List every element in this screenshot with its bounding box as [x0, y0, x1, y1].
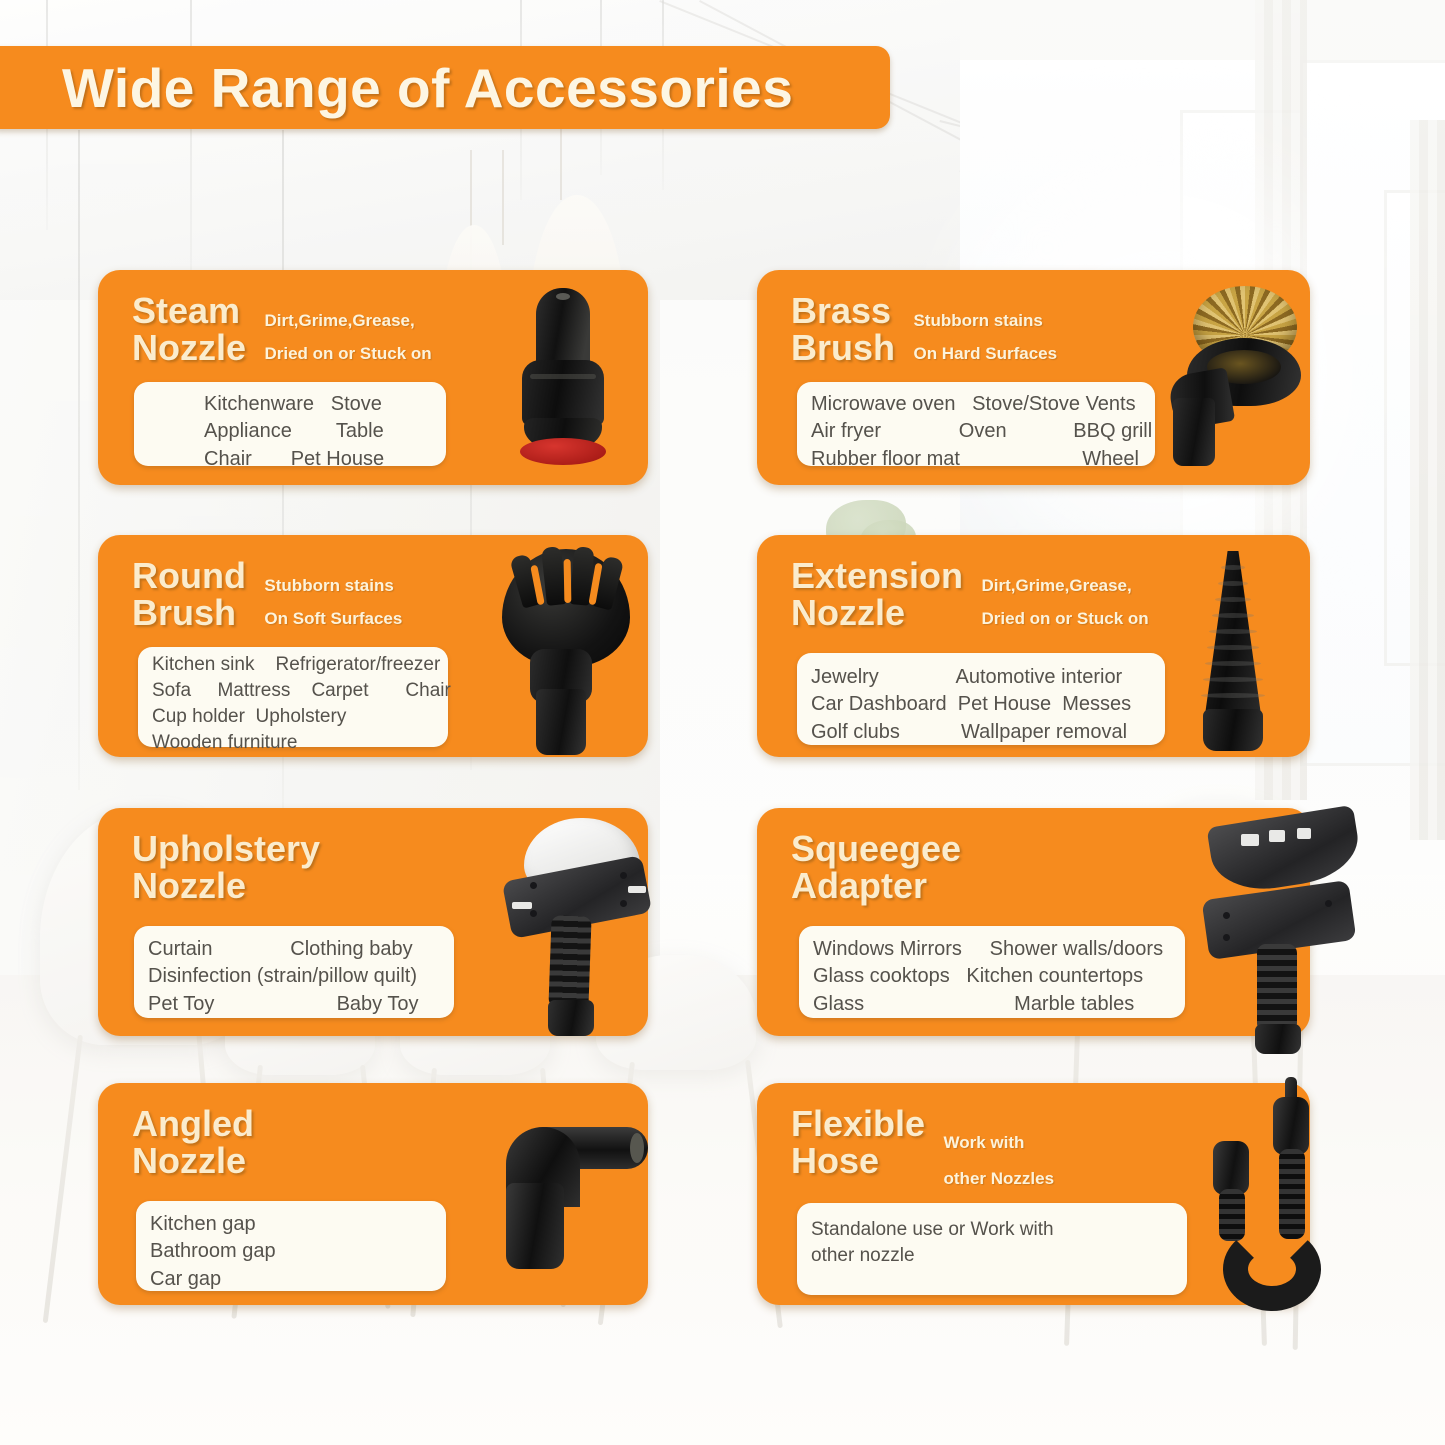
uses-box: Curtain Clothing baby Disinfection (stra…	[134, 926, 454, 1018]
accessory-card-extension-nozzle[interactable]: Extension Nozzle Dirt,Grime,Grease, Drie…	[757, 535, 1310, 757]
use-line: Air fryer Oven BBQ grill	[811, 418, 1141, 445]
use-line: Glass Marble tables	[813, 991, 1171, 1018]
card-title: Flexible Hose	[791, 1105, 925, 1179]
use-line: Car Dashboard Pet House Messes	[811, 691, 1151, 718]
card-title: Steam Nozzle	[132, 292, 246, 366]
card-title: Brass Brush	[791, 292, 895, 366]
use-line: Rubber floor mat Wheel	[811, 446, 1141, 473]
accessory-card-round-brush[interactable]: Round Brush Stubborn stains On Soft Surf…	[98, 535, 648, 757]
card-subtitle: Dirt,Grime,Grease, Dried on or Stuck on	[264, 304, 431, 370]
card-header: Extension Nozzle Dirt,Grime,Grease, Drie…	[791, 557, 1160, 635]
use-line: Kitchenware Stove	[148, 391, 432, 418]
use-line: Kitchen gap	[150, 1211, 432, 1238]
angled-nozzle-image	[488, 1123, 648, 1273]
card-title: Extension Nozzle	[791, 557, 963, 631]
accessory-card-angled-nozzle[interactable]: Angled Nozzle Any Gap or Curved surface …	[98, 1083, 648, 1305]
flexible-hose-image	[1197, 1077, 1347, 1312]
use-line: Glass cooktops Kitchen countertops	[813, 963, 1171, 990]
card-subtitle: Work with other Nozzles	[944, 1125, 1055, 1196]
uses-box: Windows Mirrors Shower walls/doors Glass…	[799, 926, 1185, 1018]
accessory-card-squeegee-adapter[interactable]: Squeegee Adapter Work With Upholstery No…	[757, 808, 1310, 1036]
use-line: Car gap	[150, 1266, 432, 1293]
uses-box: Kitchenware Stove Appliance Table Chair …	[134, 382, 446, 466]
uses-box: Standalone use or Work with other nozzle	[797, 1203, 1187, 1295]
use-line: Curtain Clothing baby	[148, 936, 440, 963]
brass-brush-image	[1167, 286, 1302, 466]
use-line: Sofa Mattress Carpet Chair	[152, 678, 434, 704]
use-line: Disinfection (strain/pillow quilt)	[148, 963, 440, 990]
use-line: Microwave oven Stove/Stove Vents	[811, 391, 1141, 418]
card-title: Upholstery Nozzle	[132, 830, 320, 904]
uses-box: Microwave oven Stove/Stove Vents Air fry…	[797, 382, 1155, 466]
upholstery-nozzle-image	[490, 818, 650, 1038]
use-line: other nozzle	[811, 1243, 1173, 1269]
card-subtitle: Dirt,Grime,Grease, Dried on or Stuck on	[982, 569, 1149, 635]
use-line: Appliance Table	[148, 418, 432, 445]
accessory-card-upholstery-nozzle[interactable]: Upholstery Nozzle Work with Cloth Cover …	[98, 808, 648, 1036]
extension-nozzle-image	[1185, 551, 1281, 751]
card-title: Squeegee Adapter	[791, 830, 961, 904]
use-line: Bathroom gap	[150, 1238, 432, 1265]
use-line: Golf clubs Wallpaper removal	[811, 719, 1151, 746]
use-line: Chair Pet House	[148, 446, 432, 473]
squeegee-adapter-image	[1193, 816, 1363, 1051]
round-brush-image	[486, 549, 636, 754]
uses-box: Jewelry Automotive interior Car Dashboar…	[797, 653, 1165, 745]
use-line: Jewelry Automotive interior	[811, 664, 1151, 691]
uses-box: Kitchen gap Bathroom gap Car gap	[136, 1201, 446, 1291]
accessory-card-steam-nozzle[interactable]: Steam Nozzle Dirt,Grime,Grease, Dried on…	[98, 270, 648, 485]
use-line: Kitchen sink Refrigerator/freezer	[152, 652, 434, 678]
card-header: Steam Nozzle Dirt,Grime,Grease, Dried on…	[132, 292, 498, 370]
card-header: Brass Brush Stubborn stains On Hard Surf…	[791, 292, 1160, 370]
accessory-card-brass-brush[interactable]: Brass Brush Stubborn stains On Hard Surf…	[757, 270, 1310, 485]
uses-box: Kitchen sink Refrigerator/freezer Sofa M…	[138, 647, 448, 747]
card-header: Flexible Hose Work with other Nozzles	[791, 1105, 1140, 1196]
card-title: Round Brush	[132, 557, 246, 631]
accessory-card-flexible-hose[interactable]: Flexible Hose Work with other Nozzles St…	[757, 1083, 1310, 1305]
use-line: Pet Toy Baby Toy	[148, 991, 440, 1018]
use-line: Cup holder Upholstery	[152, 704, 434, 730]
card-header: Round Brush Stubborn stains On Soft Surf…	[132, 557, 498, 635]
card-title: Angled Nozzle	[132, 1105, 254, 1179]
use-line: Wooden furniture	[152, 730, 434, 756]
use-line: Windows Mirrors Shower walls/doors	[813, 936, 1171, 963]
card-subtitle: Stubborn stains On Soft Surfaces	[264, 569, 402, 635]
use-line: Standalone use or Work with	[811, 1217, 1173, 1243]
steam-nozzle-image	[508, 288, 618, 468]
page-title: Wide Range of Accessories	[62, 50, 882, 126]
accessories-infographic: Wide Range of Accessories Steam Nozzle D…	[0, 0, 1445, 1445]
card-subtitle: Stubborn stains On Hard Surfaces	[913, 304, 1057, 370]
